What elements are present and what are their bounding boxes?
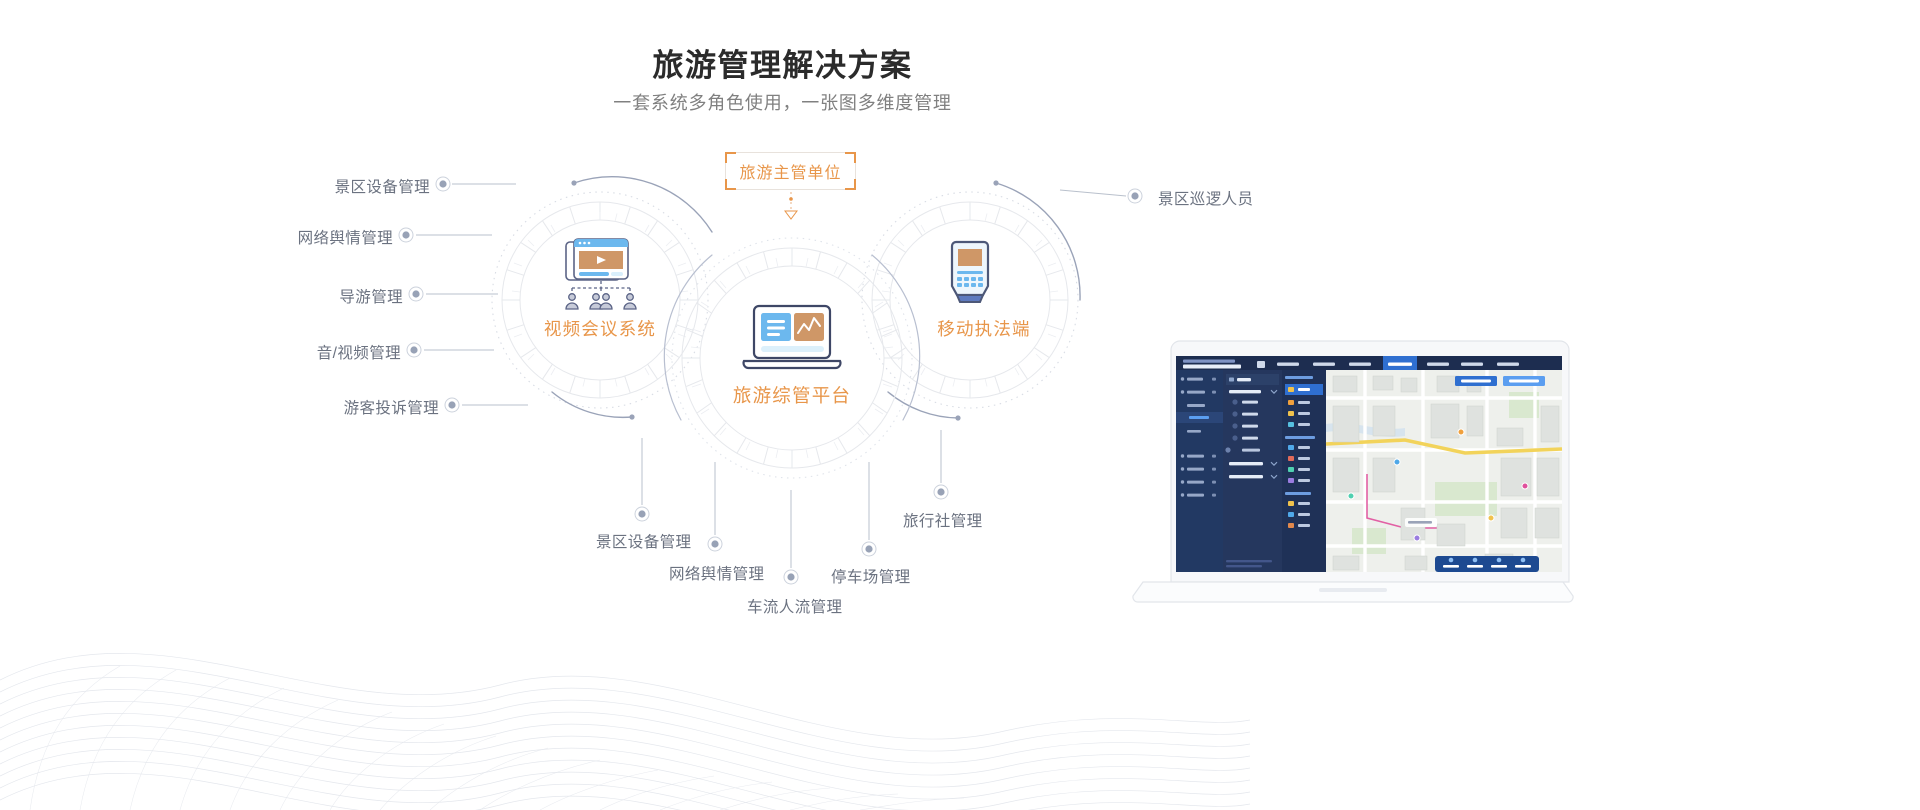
- corner-bracket-bottom-right: [845, 179, 856, 190]
- label-bottom-travel-agency: 旅行社管理: [903, 509, 983, 531]
- handheld-terminal-icon: [946, 240, 994, 310]
- label-left-network-sentiment: 网络舆情管理: [180, 226, 393, 248]
- role-badge-tourism-authority[interactable]: 旅游主管单位: [725, 152, 856, 190]
- role-badge-label: 旅游主管单位: [739, 159, 841, 183]
- right-callout-leaders: [1060, 190, 1126, 196]
- node-title-tourism-platform: 旅游综管平台: [690, 382, 894, 408]
- corner-bracket-top-right: [845, 152, 856, 163]
- label-left-audio-video: 音/视频管理: [188, 341, 401, 363]
- video-conference-icon: [556, 238, 646, 310]
- left-callout-leaders: [416, 184, 528, 405]
- role-box-connector: [785, 192, 797, 219]
- right-callout-dots: [1128, 189, 1142, 203]
- label-right-scenic-patrol: 景区巡逻人员: [1158, 187, 1253, 209]
- label-bottom-network-sentiment: 网络舆情管理: [669, 562, 764, 584]
- corner-bracket-top-left: [725, 152, 736, 163]
- laptop-dashboard-icon: [740, 304, 844, 376]
- label-left-tour-guide: 导游管理: [190, 285, 403, 307]
- corner-bracket-bottom-left: [725, 179, 736, 190]
- label-bottom-traffic-flow: 车流人流管理: [747, 595, 842, 617]
- node-title-video-conference: 视频会议系统: [500, 316, 700, 341]
- node-title-mobile-enforcement: 移动执法端: [882, 316, 1086, 341]
- solution-diagram-page: 旅游管理解决方案 一套系统多角色使用，一张图多维度管理: [0, 0, 1920, 810]
- label-bottom-scenic-equipment: 景区设备管理: [596, 530, 691, 552]
- label-left-visitor-complaint: 游客投诉管理: [225, 396, 439, 418]
- label-bottom-parking-lot: 停车场管理: [831, 565, 911, 587]
- label-left-scenic-equipment: 景区设备管理: [215, 175, 430, 197]
- laptop-product-mockup: [1105, 332, 1575, 622]
